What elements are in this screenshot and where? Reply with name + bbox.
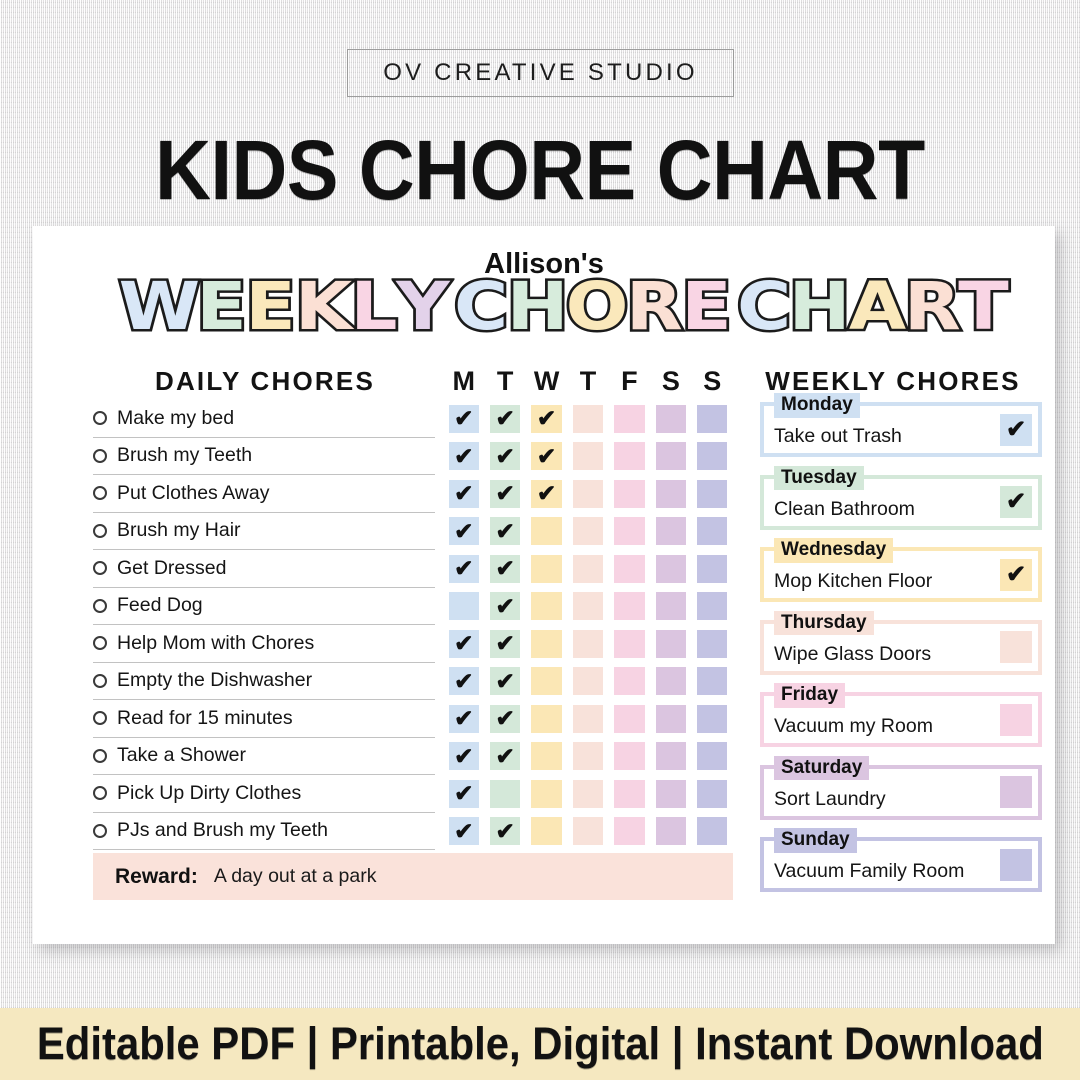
checkbox-cell[interactable] xyxy=(449,592,479,620)
checkbox-cell[interactable] xyxy=(656,742,686,770)
bubble-letter: A xyxy=(848,274,906,340)
checkbox-cell[interactable] xyxy=(490,780,520,808)
daily-chore-row[interactable]: Read for 15 minutes xyxy=(93,700,435,738)
daily-chore-label: Get Dressed xyxy=(117,557,226,580)
checkbox-cell-checked[interactable]: ✔ xyxy=(531,442,561,470)
checkbox-cell-checked[interactable]: ✔ xyxy=(490,667,520,695)
checkbox-grid-row: ✔✔✔ xyxy=(443,438,733,476)
weekly-day-label: Wednesday xyxy=(774,538,893,563)
checkbox-cell-checked[interactable]: ✔ xyxy=(449,742,479,770)
reward-bar: Reward: A day out at a park xyxy=(93,853,733,900)
checkbox-cell-checked[interactable]: ✔ xyxy=(490,517,520,545)
daily-chore-row[interactable]: Feed Dog xyxy=(93,588,435,626)
weekly-checkbox[interactable] xyxy=(1000,776,1032,808)
checkbox-cell[interactable] xyxy=(573,405,603,433)
chore-chart-card: Allison's WEEKLY CHORE CHART DAILY CHORE… xyxy=(33,226,1055,944)
checkbox-cell[interactable] xyxy=(697,630,727,658)
weekly-checkbox[interactable] xyxy=(1000,631,1032,663)
weekly-task-label[interactable]: Wipe Glass Doors xyxy=(774,643,931,666)
reward-label: Reward: xyxy=(115,865,198,889)
weekly-day-label: Tuesday xyxy=(774,466,864,491)
checkbox-cell[interactable] xyxy=(573,592,603,620)
checkbox-cell[interactable] xyxy=(697,667,727,695)
checkbox-cell[interactable] xyxy=(697,592,727,620)
bubble-word-weekly: WEEKLY xyxy=(121,274,449,340)
bubble-letter: R xyxy=(626,274,684,340)
weekday-letter: F xyxy=(609,366,650,397)
weekly-checkbox-checked[interactable]: ✔ xyxy=(1000,486,1032,518)
checkbox-cell[interactable] xyxy=(531,817,561,845)
checkbox-cell[interactable] xyxy=(697,705,727,733)
weekday-letter: S xyxy=(650,366,691,397)
checkbox-cell[interactable] xyxy=(531,742,561,770)
weekly-day-label: Friday xyxy=(774,683,845,708)
checkbox-cell[interactable] xyxy=(697,555,727,583)
weekly-task-label[interactable]: Clean Bathroom xyxy=(774,498,915,521)
weekly-chores-list: MondayTake out Trash✔TuesdayClean Bathro… xyxy=(760,402,1042,910)
weekday-letter: T xyxy=(484,366,525,397)
checkbox-cell[interactable] xyxy=(573,555,603,583)
checkbox-cell[interactable] xyxy=(614,780,644,808)
bottom-banner-text: Editable PDF | Printable, Digital | Inst… xyxy=(37,1018,1044,1070)
checkbox-cell[interactable] xyxy=(656,705,686,733)
checkbox-cell-checked[interactable]: ✔ xyxy=(449,705,479,733)
checkbox-cell[interactable] xyxy=(573,517,603,545)
circle-outline-icon[interactable] xyxy=(93,524,107,538)
daily-chore-label: Read for 15 minutes xyxy=(117,707,293,730)
checkbox-cell[interactable] xyxy=(656,442,686,470)
checkbox-cell[interactable] xyxy=(573,742,603,770)
daily-chore-label: Help Mom with Chores xyxy=(117,632,314,655)
checkbox-grid-row: ✔✔ xyxy=(443,813,733,851)
weekday-letter: W xyxy=(526,366,567,397)
bubble-letter: C xyxy=(454,274,509,340)
daily-chore-row[interactable]: Put Clothes Away xyxy=(93,475,435,513)
checkbox-grid-row: ✔✔ xyxy=(443,663,733,701)
checkbox-cell[interactable] xyxy=(614,630,644,658)
daily-chore-row[interactable]: Brush my Hair xyxy=(93,513,435,551)
checkbox-grid-row: ✔✔ xyxy=(443,700,733,738)
daily-chore-row[interactable]: Get Dressed xyxy=(93,550,435,588)
checkbox-cell-checked[interactable]: ✔ xyxy=(449,555,479,583)
checkbox-cell[interactable] xyxy=(614,817,644,845)
checkbox-cell-checked[interactable]: ✔ xyxy=(449,405,479,433)
circle-outline-icon[interactable] xyxy=(93,449,107,463)
weekday-letter: S xyxy=(692,366,733,397)
checkbox-cell[interactable] xyxy=(531,555,561,583)
weekly-task-label[interactable]: Mop Kitchen Floor xyxy=(774,570,932,593)
bubble-letter: C xyxy=(737,274,792,340)
checkbox-cell[interactable] xyxy=(697,817,727,845)
bubble-letter: H xyxy=(506,274,569,340)
daily-chores-heading: DAILY CHORES xyxy=(95,366,435,397)
daily-chore-label: Put Clothes Away xyxy=(117,482,269,505)
checkbox-cell[interactable] xyxy=(531,592,561,620)
checkbox-grid-row: ✔✔✔ xyxy=(443,475,733,513)
weekly-task-label[interactable]: Vacuum my Room xyxy=(774,715,933,738)
checkbox-grid-row: ✔✔ xyxy=(443,738,733,776)
checkbox-cell[interactable] xyxy=(656,817,686,845)
checkbox-cell-checked[interactable]: ✔ xyxy=(490,442,520,470)
daily-chores-list: Make my bedBrush my TeethPut Clothes Awa… xyxy=(93,400,435,850)
weekly-chore-card[interactable]: MondayTake out Trash✔ xyxy=(760,402,1042,457)
checkbox-cell[interactable] xyxy=(656,780,686,808)
daily-chore-label: Feed Dog xyxy=(117,594,203,617)
brand-name: OV CREATIVE STUDIO xyxy=(383,59,698,87)
checkbox-grid-row: ✔✔ xyxy=(443,625,733,663)
checkbox-grid: ✔✔✔✔✔✔✔✔✔✔✔✔✔✔✔✔✔✔✔✔✔✔✔✔✔ xyxy=(443,400,733,850)
checkbox-cell[interactable] xyxy=(614,517,644,545)
weekly-chore-card[interactable]: ThursdayWipe Glass Doors xyxy=(760,620,1042,675)
daily-chore-label: Make my bed xyxy=(117,407,234,430)
checkbox-cell[interactable] xyxy=(656,405,686,433)
checkbox-grid-row: ✔✔ xyxy=(443,513,733,551)
checkbox-cell[interactable] xyxy=(697,517,727,545)
daily-chore-label: PJs and Brush my Teeth xyxy=(117,819,328,842)
checkbox-cell[interactable] xyxy=(531,630,561,658)
checkbox-grid-row: ✔ xyxy=(443,588,733,626)
circle-outline-icon[interactable] xyxy=(93,786,107,800)
bubble-title: WEEKLY CHORE CHART xyxy=(61,274,1027,362)
bubble-letter: L xyxy=(350,274,398,340)
bubble-letter: O xyxy=(566,274,630,340)
checkbox-cell-checked[interactable]: ✔ xyxy=(449,517,479,545)
checkbox-cell-checked[interactable]: ✔ xyxy=(490,742,520,770)
daily-chore-row[interactable]: Take a Shower xyxy=(93,738,435,776)
checkbox-cell[interactable] xyxy=(573,705,603,733)
bubble-letter: R xyxy=(904,274,962,340)
checkbox-cell-checked[interactable]: ✔ xyxy=(490,592,520,620)
checkbox-cell[interactable] xyxy=(697,742,727,770)
checkbox-cell[interactable] xyxy=(656,667,686,695)
circle-outline-icon[interactable] xyxy=(93,749,107,763)
checkbox-cell[interactable] xyxy=(697,780,727,808)
checkbox-cell-checked[interactable]: ✔ xyxy=(531,405,561,433)
weekly-checkbox-checked[interactable]: ✔ xyxy=(1000,559,1032,591)
checkbox-cell-checked[interactable]: ✔ xyxy=(449,780,479,808)
brand-badge: OV CREATIVE STUDIO xyxy=(347,49,734,97)
daily-chore-row[interactable]: Brush my Teeth xyxy=(93,438,435,476)
daily-chore-row[interactable]: PJs and Brush my Teeth xyxy=(93,813,435,851)
weekly-chore-card[interactable]: WednesdayMop Kitchen Floor✔ xyxy=(760,547,1042,602)
checkbox-cell-checked[interactable]: ✔ xyxy=(449,480,479,508)
weekly-chore-card[interactable]: SundayVacuum Family Room xyxy=(760,837,1042,892)
checkbox-cell[interactable] xyxy=(614,667,644,695)
circle-outline-icon[interactable] xyxy=(93,599,107,613)
checkbox-cell-checked[interactable]: ✔ xyxy=(490,555,520,583)
bubble-letter: E xyxy=(681,274,733,340)
checkbox-cell[interactable] xyxy=(614,705,644,733)
checkbox-cell-checked[interactable]: ✔ xyxy=(449,667,479,695)
bubble-word-chore: CHORE xyxy=(456,274,732,340)
checkbox-cell[interactable] xyxy=(656,517,686,545)
bubble-letter: H xyxy=(789,274,852,340)
circle-outline-icon[interactable] xyxy=(93,561,107,575)
weekly-chore-card[interactable]: SaturdaySort Laundry xyxy=(760,765,1042,820)
bubble-letter: Y xyxy=(396,274,451,340)
checkbox-cell[interactable] xyxy=(614,405,644,433)
checkbox-grid-row: ✔✔ xyxy=(443,550,733,588)
circle-outline-icon[interactable] xyxy=(93,824,107,838)
weekly-chore-card[interactable]: FridayVacuum my Room xyxy=(760,692,1042,747)
checkbox-cell[interactable] xyxy=(573,667,603,695)
checkbox-cell[interactable] xyxy=(614,592,644,620)
checkbox-cell[interactable] xyxy=(656,630,686,658)
weekly-checkbox[interactable] xyxy=(1000,704,1032,736)
checkbox-cell[interactable] xyxy=(656,555,686,583)
weekly-day-label: Monday xyxy=(774,393,860,418)
reward-value[interactable]: A day out at a park xyxy=(214,865,377,888)
checkbox-cell[interactable] xyxy=(573,780,603,808)
checkbox-cell-checked[interactable]: ✔ xyxy=(490,817,520,845)
weekly-task-label[interactable]: Vacuum Family Room xyxy=(774,860,964,883)
daily-chore-row[interactable]: Make my bed xyxy=(93,400,435,438)
daily-chore-label: Brush my Teeth xyxy=(117,444,252,467)
checkbox-cell-checked[interactable]: ✔ xyxy=(490,630,520,658)
checkbox-cell[interactable] xyxy=(531,667,561,695)
checkbox-cell[interactable] xyxy=(573,817,603,845)
checkbox-cell[interactable] xyxy=(614,480,644,508)
bubble-letter: E xyxy=(197,274,249,340)
bubble-letter: E xyxy=(246,274,298,340)
weekday-letter: M xyxy=(443,366,484,397)
weekly-day-label: Saturday xyxy=(774,756,869,781)
checkbox-cell[interactable] xyxy=(697,480,727,508)
checkbox-cell[interactable] xyxy=(614,555,644,583)
checkbox-cell[interactable] xyxy=(697,442,727,470)
bubble-letter: T xyxy=(959,274,1011,340)
daily-chore-row[interactable]: Empty the Dishwasher xyxy=(93,663,435,701)
weekly-task-label[interactable]: Sort Laundry xyxy=(774,788,886,811)
checkbox-cell[interactable] xyxy=(656,480,686,508)
checkbox-cell-checked[interactable]: ✔ xyxy=(449,817,479,845)
weekly-day-label: Sunday xyxy=(774,828,857,853)
checkbox-grid-row: ✔ xyxy=(443,775,733,813)
page-title: KIDS CHORE CHART xyxy=(43,122,1037,219)
bubble-letter: K xyxy=(294,274,352,340)
checkbox-cell-checked[interactable]: ✔ xyxy=(490,705,520,733)
daily-chore-row[interactable]: Help Mom with Chores xyxy=(93,625,435,663)
weekly-day-label: Thursday xyxy=(774,611,874,636)
checkbox-cell-checked[interactable]: ✔ xyxy=(490,405,520,433)
checkbox-cell[interactable] xyxy=(614,442,644,470)
checkbox-cell[interactable] xyxy=(697,405,727,433)
checkbox-cell[interactable] xyxy=(573,480,603,508)
weekly-checkbox-checked[interactable]: ✔ xyxy=(1000,414,1032,446)
checkbox-cell-checked[interactable]: ✔ xyxy=(531,480,561,508)
weekday-header-row: MTWTFSS xyxy=(443,366,733,397)
checkbox-cell[interactable] xyxy=(531,705,561,733)
daily-chore-row[interactable]: Pick Up Dirty Clothes xyxy=(93,775,435,813)
weekly-task-label[interactable]: Take out Trash xyxy=(774,425,902,448)
checkbox-cell[interactable] xyxy=(531,517,561,545)
daily-chore-label: Take a Shower xyxy=(117,744,246,767)
checkbox-cell[interactable] xyxy=(573,630,603,658)
checkbox-cell[interactable] xyxy=(656,592,686,620)
checkbox-cell-checked[interactable]: ✔ xyxy=(449,630,479,658)
circle-outline-icon[interactable] xyxy=(93,486,107,500)
weekday-letter: T xyxy=(567,366,608,397)
checkbox-cell-checked[interactable]: ✔ xyxy=(449,442,479,470)
weekly-chore-card[interactable]: TuesdayClean Bathroom✔ xyxy=(760,475,1042,530)
checkbox-grid-row: ✔✔✔ xyxy=(443,400,733,438)
circle-outline-icon[interactable] xyxy=(93,636,107,650)
daily-chore-label: Brush my Hair xyxy=(117,519,241,542)
checkbox-cell[interactable] xyxy=(573,442,603,470)
daily-chore-label: Empty the Dishwasher xyxy=(117,669,312,692)
daily-chore-label: Pick Up Dirty Clothes xyxy=(117,782,301,805)
bottom-banner: Editable PDF | Printable, Digital | Inst… xyxy=(0,1008,1080,1080)
circle-outline-icon[interactable] xyxy=(93,411,107,425)
checkbox-cell-checked[interactable]: ✔ xyxy=(490,480,520,508)
circle-outline-icon[interactable] xyxy=(93,674,107,688)
checkbox-cell[interactable] xyxy=(614,742,644,770)
bubble-letter: W xyxy=(118,274,201,340)
circle-outline-icon[interactable] xyxy=(93,711,107,725)
bubble-word-chart: CHART xyxy=(738,274,1009,340)
checkbox-cell[interactable] xyxy=(531,780,561,808)
weekly-checkbox[interactable] xyxy=(1000,849,1032,881)
